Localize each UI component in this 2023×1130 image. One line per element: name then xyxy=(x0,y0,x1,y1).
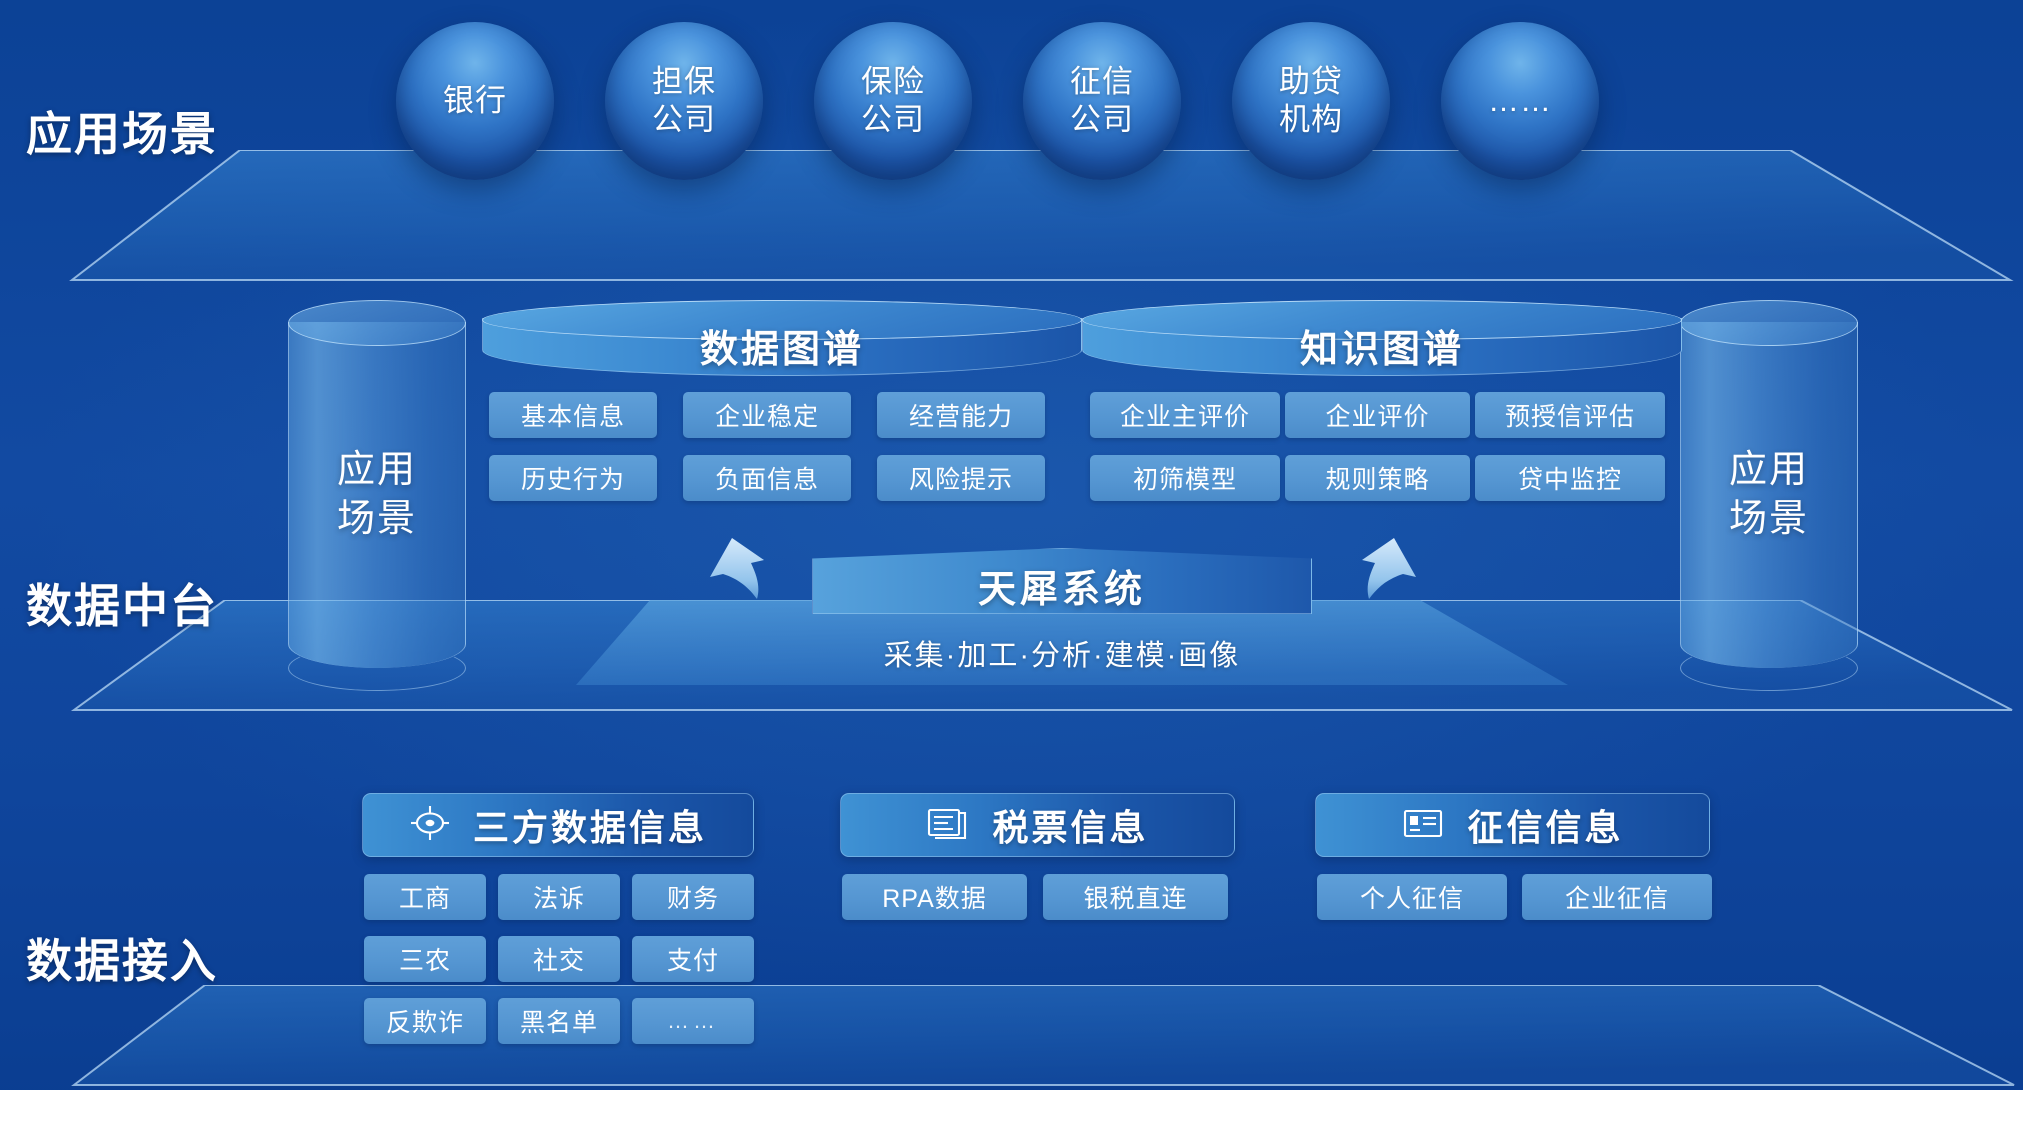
scenario-sphere-label: 担保 公司 xyxy=(652,63,716,139)
scenario-sphere-loan-facilitator[interactable]: 助贷 机构 xyxy=(1232,22,1390,180)
chip-data-graph-3[interactable]: 经营能力 xyxy=(877,392,1045,438)
core-system-banner[interactable]: 天犀系统 xyxy=(812,548,1312,614)
arrow-up-left-icon xyxy=(702,530,788,616)
layer-label-application-scenario: 应用场景 xyxy=(26,98,218,164)
chip-knowledge-graph-6[interactable]: 贷中监控 xyxy=(1475,455,1665,501)
chip-third-party-2[interactable]: 法诉 xyxy=(498,874,620,920)
chip-knowledge-graph-5[interactable]: 规则策略 xyxy=(1285,455,1470,501)
chip-knowledge-graph-2[interactable]: 企业评价 xyxy=(1285,392,1470,438)
chip-data-graph-1[interactable]: 基本信息 xyxy=(489,392,657,438)
scenario-sphere-label: 保险 公司 xyxy=(861,63,925,139)
core-system-subtitle: 采集·加工·分析·建模·画像 xyxy=(812,632,1312,674)
layer-label-data-midplatform: 数据中台 xyxy=(26,570,218,636)
scenario-sphere-label: 助贷 机构 xyxy=(1279,63,1343,139)
invoice-data-header[interactable]: 税票信息 xyxy=(840,793,1235,857)
chip-third-party-6[interactable]: 支付 xyxy=(632,936,754,982)
left-application-scenario-cylinder[interactable]: 应用 场景 xyxy=(288,300,466,690)
invoice-icon xyxy=(926,803,970,848)
scenario-sphere-bank[interactable]: 银行 xyxy=(396,22,554,180)
scenario-sphere-insurance[interactable]: 保险 公司 xyxy=(814,22,972,180)
core-system-title: 天犀系统 xyxy=(812,548,1312,614)
cylinder-label: 应用 场景 xyxy=(1680,300,1858,690)
chip-third-party-3[interactable]: 财务 xyxy=(632,874,754,920)
credit-data-header[interactable]: 征信信息 xyxy=(1315,793,1710,857)
third-party-data-title: 三方数据信息 xyxy=(473,799,707,851)
architecture-diagram: 应用场景 数据中台 数据接入 银行 担保 公司 保险 公司 征信 公司 助贷 机… xyxy=(0,0,2023,1130)
knowledge-graph-disc[interactable]: 知识图谱 xyxy=(1082,300,1682,386)
chip-invoice-2[interactable]: 银税直连 xyxy=(1043,874,1228,920)
chip-third-party-8[interactable]: 黑名单 xyxy=(498,998,620,1044)
chip-invoice-1[interactable]: RPA数据 xyxy=(842,874,1027,920)
chip-knowledge-graph-3[interactable]: 预授信评估 xyxy=(1475,392,1665,438)
knowledge-graph-title: 知识图谱 xyxy=(1082,314,1682,376)
scenario-sphere-more[interactable]: …… xyxy=(1441,22,1599,180)
data-graph-disc[interactable]: 数据图谱 xyxy=(482,300,1082,386)
chip-third-party-9[interactable]: …… xyxy=(632,998,754,1044)
scenario-sphere-guarantee[interactable]: 担保 公司 xyxy=(605,22,763,180)
layer-label-data-access: 数据接入 xyxy=(26,925,218,991)
arrow-up-right-icon xyxy=(1338,530,1424,616)
target-crosshair-icon xyxy=(409,802,451,849)
chip-data-graph-5[interactable]: 负面信息 xyxy=(683,455,851,501)
scenario-sphere-label: 征信 公司 xyxy=(1070,63,1134,139)
chip-third-party-5[interactable]: 社交 xyxy=(498,936,620,982)
scenario-sphere-credit-agency[interactable]: 征信 公司 xyxy=(1023,22,1181,180)
id-card-icon xyxy=(1401,803,1445,848)
scenario-sphere-label: …… xyxy=(1488,82,1552,120)
chip-credit-1[interactable]: 个人征信 xyxy=(1317,874,1507,920)
platform-data-access xyxy=(0,985,2023,1100)
invoice-data-title: 税票信息 xyxy=(992,799,1148,851)
platform-application-scenario xyxy=(0,150,2023,295)
data-graph-title: 数据图谱 xyxy=(482,314,1082,376)
chip-data-graph-6[interactable]: 风险提示 xyxy=(877,455,1045,501)
bottom-white-strip xyxy=(0,1090,2023,1130)
chip-data-graph-4[interactable]: 历史行为 xyxy=(489,455,657,501)
chip-data-graph-2[interactable]: 企业稳定 xyxy=(683,392,851,438)
chip-third-party-4[interactable]: 三农 xyxy=(364,936,486,982)
scenario-sphere-label: 银行 xyxy=(443,82,507,120)
right-application-scenario-cylinder[interactable]: 应用 场景 xyxy=(1680,300,1858,690)
third-party-data-header[interactable]: 三方数据信息 xyxy=(362,793,754,857)
chip-third-party-7[interactable]: 反欺诈 xyxy=(364,998,486,1044)
chip-third-party-1[interactable]: 工商 xyxy=(364,874,486,920)
chip-credit-2[interactable]: 企业征信 xyxy=(1522,874,1712,920)
chip-knowledge-graph-1[interactable]: 企业主评价 xyxy=(1090,392,1280,438)
credit-data-title: 征信信息 xyxy=(1467,799,1623,851)
chip-knowledge-graph-4[interactable]: 初筛模型 xyxy=(1090,455,1280,501)
cylinder-label: 应用 场景 xyxy=(288,300,466,690)
